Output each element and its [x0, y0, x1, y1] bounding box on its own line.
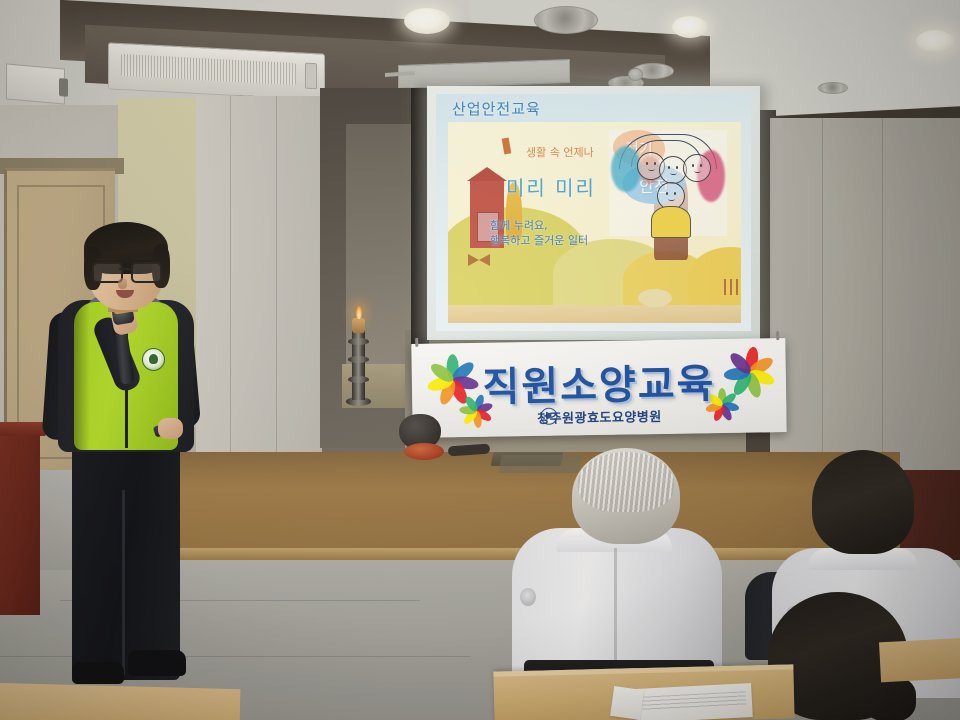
ground-shape: [448, 305, 741, 323]
kid-face: [690, 164, 704, 171]
banner-tie: [415, 338, 418, 347]
presenter-shoe: [128, 650, 186, 676]
kid-mouth: [694, 169, 701, 173]
kid-eye: [666, 192, 668, 195]
kid-eye: [654, 162, 656, 165]
crayon-kids-drawing: [609, 130, 727, 236]
kid-face: [664, 192, 678, 199]
candlestick-knob: [348, 356, 369, 363]
presenter-shoe: [72, 662, 124, 684]
paper-text-lines: [642, 691, 747, 710]
glasses-bridge: [119, 268, 131, 270]
kid-eye: [700, 164, 702, 167]
attendee-hair-bun: [860, 676, 916, 720]
downlight-icon: [916, 30, 954, 52]
wall-speaker-icon: [6, 63, 65, 104]
glasses-icon: [92, 262, 160, 280]
wall-alcove: [320, 88, 412, 448]
presenter-hand-right: [158, 418, 183, 439]
slide-subtext-line-1: 함께 누려요,: [490, 218, 588, 233]
kid-eye: [668, 166, 670, 169]
presenter-eyebrow: [96, 258, 116, 261]
fence-icon: [724, 279, 741, 295]
podium: [0, 425, 40, 615]
handout-paper: [610, 686, 644, 720]
floor-mat: [498, 455, 581, 473]
ac-vent: [305, 63, 317, 90]
kid-eye: [676, 166, 678, 169]
kite-icon: [502, 138, 512, 155]
attendee-hair: [578, 452, 674, 512]
slide-header: 산업안전교육: [452, 98, 541, 119]
downlight-icon: [672, 16, 708, 38]
desk: [0, 683, 240, 720]
presenter-legs: [72, 430, 180, 680]
ceiling-speaker-icon: [818, 82, 848, 94]
wall-seam: [230, 96, 231, 496]
shirt-seam: [614, 548, 617, 678]
sprinkler-icon: [628, 68, 643, 81]
kid-eye: [674, 192, 676, 195]
kid-head: [683, 154, 711, 182]
candlestick-knob: [348, 338, 369, 345]
bush-icon: [638, 289, 672, 307]
kid-eye: [646, 162, 648, 165]
leg-split: [122, 490, 125, 675]
kid-face: [644, 162, 658, 169]
glasses-lens: [131, 262, 162, 283]
candle-wax: [352, 318, 365, 333]
wall-seam: [276, 96, 277, 496]
slide-big-text: 미리 미리: [506, 172, 596, 201]
kid-mouth: [648, 167, 655, 171]
slide-illustration: 생활 속 언제나 전기 미리 미리 안전 함께 누려요, 행복하고 즐거운 일터: [448, 122, 741, 323]
presenter-nose: [118, 278, 127, 289]
event-banner: 직원소양교육 청주원광효도요양병원: [411, 338, 786, 438]
presenter-eyebrow: [132, 257, 152, 260]
kid-eye: [692, 164, 694, 167]
kid-mouth: [670, 171, 677, 175]
slide-subtext-line-2: 행복하고 즐거운 일터: [490, 233, 588, 248]
bow-icon: [468, 254, 490, 266]
photo-scene: 산업안전교육 생활 속 언제나 전기: [0, 0, 960, 720]
shirt-patch: [520, 588, 536, 606]
slide-content: 산업안전교육 생활 속 언제나 전기: [436, 94, 751, 331]
desk: [879, 638, 960, 683]
kid-face: [666, 166, 680, 173]
handout-paper: [635, 683, 753, 720]
slide-tagline: 생활 속 언제나: [526, 144, 594, 160]
attendee-head: [812, 450, 914, 554]
projection-screen: 산업안전교육 생활 속 언제나 전기: [427, 86, 760, 340]
floor-seam: [0, 656, 470, 657]
podium-top: [0, 422, 46, 436]
vest-shadow: [74, 302, 90, 450]
candlestick-stand: [352, 330, 365, 400]
kid-mouth: [668, 197, 675, 201]
wall-middle: [196, 96, 322, 496]
candle-flame-icon: [356, 306, 362, 319]
vest-logo-icon: [142, 348, 165, 371]
downlight-icon: [404, 8, 450, 34]
banner-tie: [776, 331, 779, 340]
red-bowl: [404, 443, 444, 460]
ac-grille: [121, 54, 296, 85]
slide-subtext: 함께 누려요, 행복하고 즐거운 일터: [490, 218, 588, 248]
kid-body: [651, 206, 691, 238]
hill-shape: [688, 247, 741, 309]
candlestick-knob: [348, 376, 369, 383]
ceiling-speaker-icon: [534, 6, 598, 34]
